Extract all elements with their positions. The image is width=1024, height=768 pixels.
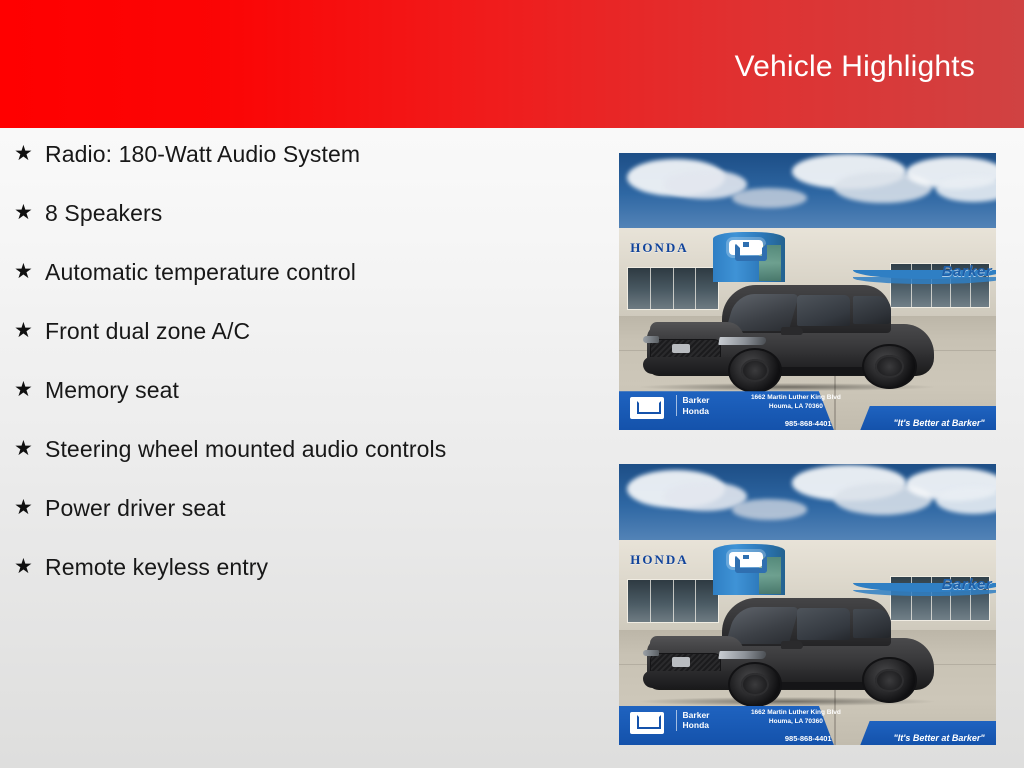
- building-honda-wordmark: HONDA: [630, 240, 688, 256]
- feature-label: Remote keyless entry: [45, 553, 600, 581]
- dealer-address: 1662 Martin Luther King Blvd Houma, LA 7…: [751, 394, 841, 412]
- list-item: ★ Memory seat: [0, 376, 600, 404]
- honda-badge-icon: [672, 344, 691, 354]
- rear-window: [853, 296, 891, 324]
- star-bullet-icon: ★: [14, 435, 45, 463]
- feature-label: Steering wheel mounted audio controls: [45, 435, 475, 463]
- dealership-scene: HONDA Barker: [619, 153, 996, 430]
- star-bullet-icon: ★: [14, 376, 45, 404]
- headlight: [718, 337, 766, 345]
- honda-accord-vehicle: [634, 596, 947, 706]
- vehicle-photo-top: HONDA Barker: [619, 153, 996, 430]
- rear-wheel: [862, 657, 916, 703]
- cloud-icon: [732, 499, 807, 519]
- list-item: ★ Power driver seat: [0, 494, 600, 522]
- feature-label: Front dual zone A/C: [45, 317, 600, 345]
- dealer-name-line1: Barker: [683, 710, 710, 721]
- honda-logo-icon: [630, 712, 664, 734]
- honda-logo-icon: [729, 240, 763, 255]
- honda-logo-icon: [729, 552, 763, 567]
- honda-logo-icon: [630, 397, 664, 419]
- headlight-left: [643, 336, 659, 342]
- list-item: ★ Front dual zone A/C: [0, 317, 600, 345]
- dealer-address-line1: 1662 Martin Luther King Blvd: [751, 394, 841, 403]
- dealer-tagline: "It's Better at Barker": [893, 733, 984, 743]
- cloud-icon: [936, 176, 996, 202]
- cloud-icon: [732, 188, 807, 208]
- building-barker-sign: Barker: [942, 263, 993, 280]
- list-item: ★ 8 Speakers: [0, 199, 600, 227]
- headlight-left: [643, 650, 659, 657]
- star-bullet-icon: ★: [14, 199, 45, 227]
- honda-badge-icon: [672, 657, 691, 667]
- dealer-address-line2: Houma, LA 70360: [751, 718, 841, 727]
- star-bullet-icon: ★: [14, 140, 45, 168]
- list-item: ★ Remote keyless entry: [0, 553, 600, 581]
- feature-label: Memory seat: [45, 376, 600, 404]
- dealer-phone: 985-868-4401: [785, 419, 832, 428]
- dealer-name: Barker Honda: [676, 395, 710, 416]
- dealership-tower: [713, 232, 785, 282]
- honda-accord-vehicle: [634, 283, 947, 391]
- star-bullet-icon: ★: [14, 494, 45, 522]
- building-honda-wordmark: HONDA: [630, 552, 688, 568]
- dealer-address-line1: 1662 Martin Luther King Blvd: [751, 709, 841, 718]
- feature-label: Radio: 180-Watt Audio System: [45, 140, 600, 168]
- vehicle-photo-bottom: HONDA Barker: [619, 464, 996, 745]
- front-wheel: [728, 662, 782, 708]
- dealership-tower: [713, 544, 785, 594]
- cloud-icon: [936, 487, 996, 513]
- star-bullet-icon: ★: [14, 258, 45, 286]
- page-title: Vehicle Highlights: [735, 50, 975, 84]
- side-mirror: [781, 327, 803, 335]
- list-item: ★ Steering wheel mounted audio controls: [0, 435, 600, 463]
- headlight: [718, 651, 766, 659]
- vehicle-highlights-slide: Vehicle Highlights ★ Radio: 180-Watt Aud…: [0, 0, 1024, 768]
- list-item: ★ Automatic temperature control: [0, 258, 600, 286]
- feature-label: Power driver seat: [45, 494, 600, 522]
- dealer-name: Barker Honda: [676, 710, 710, 731]
- dealer-banner: Barker Honda 1662 Martin Luther King Blv…: [619, 391, 996, 430]
- dealer-banner: Barker Honda 1662 Martin Luther King Blv…: [619, 706, 996, 745]
- rear-window: [853, 609, 891, 637]
- dealer-name-line2: Honda: [683, 406, 710, 417]
- side-window: [797, 608, 850, 640]
- star-bullet-icon: ★: [14, 317, 45, 345]
- star-bullet-icon: ★: [14, 553, 45, 581]
- rear-wheel: [862, 344, 916, 389]
- dealer-address-line2: Houma, LA 70360: [751, 403, 841, 412]
- front-wheel: [728, 348, 782, 393]
- header-banner: Vehicle Highlights: [0, 0, 1024, 128]
- side-mirror: [781, 641, 803, 649]
- dealer-tagline: "It's Better at Barker": [893, 418, 984, 428]
- dealer-address: 1662 Martin Luther King Blvd Houma, LA 7…: [751, 709, 841, 727]
- dealer-name-line1: Barker: [683, 395, 710, 406]
- dealer-phone: 985-868-4401: [785, 734, 832, 743]
- feature-label: Automatic temperature control: [45, 258, 600, 286]
- building-barker-sign: Barker: [942, 576, 993, 593]
- dealer-name-line2: Honda: [683, 720, 710, 731]
- feature-label: 8 Speakers: [45, 199, 600, 227]
- list-item: ★ Radio: 180-Watt Audio System: [0, 140, 600, 168]
- side-window: [797, 295, 850, 326]
- dealership-scene: HONDA Barker: [619, 464, 996, 745]
- vehicle-features-list: ★ Radio: 180-Watt Audio System ★ 8 Speak…: [0, 140, 600, 612]
